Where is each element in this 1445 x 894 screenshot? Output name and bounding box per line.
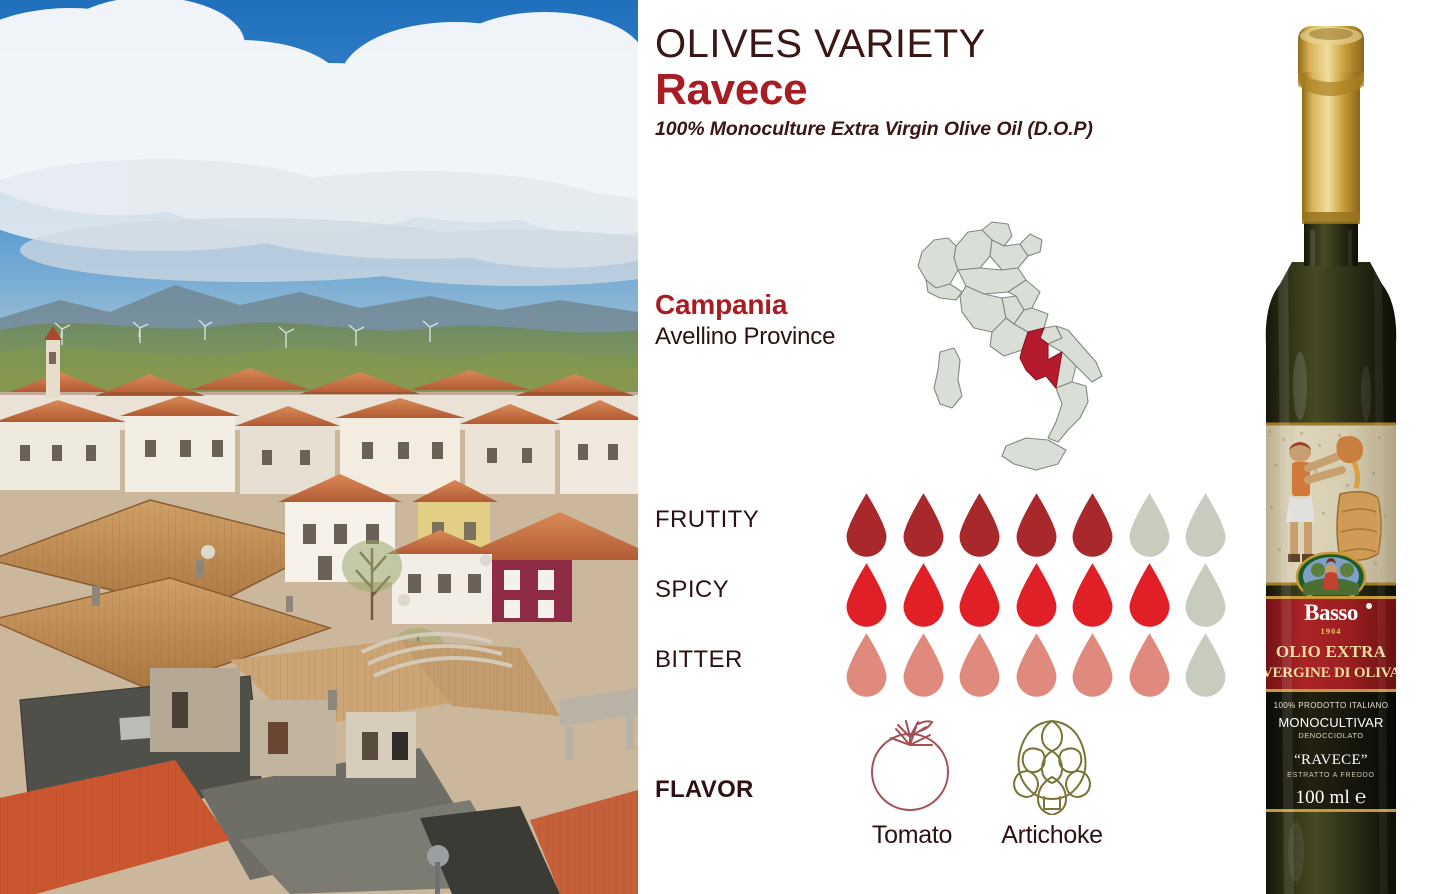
- product-bottle: Basso 1904 OLIO EXTRA VERGINE DI OLIVA 1…: [1248, 14, 1414, 894]
- svg-text:OLIO EXTRA: OLIO EXTRA: [1276, 642, 1387, 661]
- droplet-icon: [1013, 562, 1060, 628]
- droplet-icon: [1182, 492, 1229, 558]
- droplet-icon: [956, 562, 1003, 628]
- italy-map: [896, 200, 1126, 490]
- droplet-icon: [843, 562, 890, 628]
- droplet-icon: [956, 632, 1003, 698]
- droplet-icon: [1069, 562, 1116, 628]
- basso-badge: [1297, 553, 1365, 601]
- droplet-icon: [1126, 562, 1173, 628]
- droplet-icon: [1126, 632, 1173, 698]
- svg-text:1904: 1904: [1321, 626, 1342, 636]
- droplet-scale-frutity: [843, 492, 1229, 558]
- flavor-caption: Tomato: [853, 821, 971, 850]
- infographic-root: OLIVES VARIETY Ravece 100% Monoculture E…: [0, 0, 1445, 894]
- flavor-item-tomato: Tomato: [853, 712, 971, 850]
- svg-text:DENOCCIOLATO: DENOCCIOLATO: [1298, 731, 1363, 740]
- droplet-icon: [1069, 492, 1116, 558]
- flavor-items: Tomato: [853, 712, 1111, 850]
- droplet-icon: [956, 492, 1003, 558]
- flavor-caption: Artichoke: [993, 821, 1111, 850]
- page-title: Ravece: [655, 65, 1215, 114]
- village-photo: [0, 0, 638, 894]
- attribute-label: SPICY: [655, 576, 729, 604]
- droplet-scale-bitter: [843, 632, 1229, 698]
- svg-text:Basso: Basso: [1304, 600, 1358, 625]
- attribute-label: FRUTITY: [655, 506, 759, 534]
- flavor-item-artichoke: Artichoke: [993, 712, 1111, 850]
- droplet-icon: [1013, 492, 1060, 558]
- page-subtitle: 100% Monoculture Extra Virgin Olive Oil …: [655, 118, 1215, 141]
- svg-text:MONOCULTIVAR: MONOCULTIVAR: [1278, 715, 1383, 730]
- droplet-icon: [900, 562, 947, 628]
- attribute-label: BITTER: [655, 646, 743, 674]
- artichoke-icon: [993, 712, 1111, 817]
- flavor-label: FLAVOR: [655, 776, 754, 804]
- droplet-icon: [900, 492, 947, 558]
- droplet-icon: [1182, 632, 1229, 698]
- svg-text:100 ml ℮: 100 ml ℮: [1295, 787, 1366, 808]
- droplet-icon: [900, 632, 947, 698]
- svg-text:ESTRATTO A FREDDO: ESTRATTO A FREDDO: [1287, 772, 1375, 779]
- page-eyebrow: OLIVES VARIETY: [655, 22, 1215, 67]
- droplet-icon: [843, 632, 890, 698]
- droplet-icon: [1126, 492, 1173, 558]
- bottle-cap: [1298, 26, 1364, 224]
- droplet-icon: [1069, 632, 1116, 698]
- droplet-scale-spicy: [843, 562, 1229, 628]
- svg-text:“RAVECE”: “RAVECE”: [1294, 752, 1368, 768]
- droplet-icon: [1013, 632, 1060, 698]
- tomato-icon: [853, 712, 971, 817]
- droplet-icon: [843, 492, 890, 558]
- title-block: OLIVES VARIETY Ravece 100% Monoculture E…: [655, 22, 1215, 141]
- droplet-icon: [1182, 562, 1229, 628]
